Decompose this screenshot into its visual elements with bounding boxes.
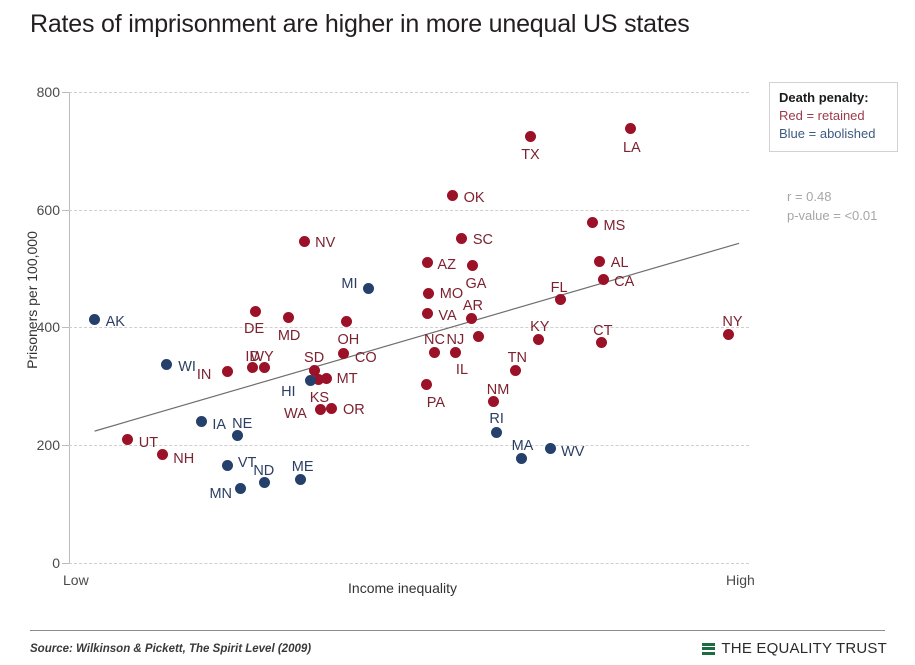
data-point-ct[interactable] bbox=[596, 337, 607, 348]
point-label-ma: MA bbox=[512, 438, 534, 454]
point-label-de: DE bbox=[244, 321, 264, 337]
point-label-ct: CT bbox=[593, 323, 612, 339]
data-point-ut[interactable] bbox=[122, 434, 133, 445]
data-point-il[interactable] bbox=[450, 347, 461, 358]
gridline-200 bbox=[69, 445, 749, 446]
gridline-800 bbox=[69, 92, 749, 93]
point-label-ca: CA bbox=[614, 274, 634, 290]
point-label-la: LA bbox=[623, 140, 641, 156]
tick-600 bbox=[62, 210, 69, 211]
data-point-ok[interactable] bbox=[447, 190, 458, 201]
data-point-pa[interactable] bbox=[421, 379, 432, 390]
tick-0 bbox=[62, 563, 69, 564]
tick-400 bbox=[62, 327, 69, 328]
source-note: Source: Wilkinson & Pickett, The Spirit … bbox=[30, 643, 311, 655]
point-label-sc: SC bbox=[473, 232, 493, 248]
data-point-tx[interactable] bbox=[525, 131, 536, 142]
point-label-hi: HI bbox=[281, 384, 296, 400]
gridline-600 bbox=[69, 210, 749, 211]
data-point-ri[interactable] bbox=[491, 427, 502, 438]
data-point-nh[interactable] bbox=[157, 449, 168, 460]
point-label-va: VA bbox=[438, 308, 456, 324]
tick-800 bbox=[62, 92, 69, 93]
point-label-fl: FL bbox=[551, 280, 568, 296]
data-point-hi[interactable] bbox=[305, 375, 316, 386]
data-point-sc[interactable] bbox=[456, 233, 467, 244]
data-point-mt[interactable] bbox=[321, 373, 332, 384]
point-label-ga: GA bbox=[466, 276, 487, 292]
point-label-nm: NM bbox=[487, 382, 510, 398]
data-point-nc[interactable] bbox=[429, 347, 440, 358]
point-label-nd: ND bbox=[253, 463, 274, 479]
data-point-al[interactable] bbox=[594, 256, 605, 267]
data-point-ak[interactable] bbox=[89, 314, 100, 325]
data-point-mo[interactable] bbox=[423, 288, 434, 299]
point-label-ri: RI bbox=[489, 411, 504, 427]
legend: Death penalty: Red = retained Blue = abo… bbox=[769, 82, 898, 152]
point-label-nj: NJ bbox=[446, 332, 464, 348]
brand-logo: THE EQUALITY TRUST bbox=[702, 640, 887, 657]
data-point-ky[interactable] bbox=[533, 334, 544, 345]
point-label-in: IN bbox=[197, 367, 212, 383]
gridline-0 bbox=[69, 563, 749, 564]
data-point-me[interactable] bbox=[295, 474, 306, 485]
point-label-mn: MN bbox=[209, 486, 232, 502]
point-label-tn: TN bbox=[508, 350, 527, 366]
data-point-wv[interactable] bbox=[545, 443, 556, 454]
data-point-nd[interactable] bbox=[259, 477, 270, 488]
point-label-md: MD bbox=[278, 328, 301, 344]
point-label-ia: IA bbox=[212, 417, 226, 433]
data-point-nm[interactable] bbox=[488, 396, 499, 407]
data-point-or[interactable] bbox=[326, 403, 337, 414]
point-label-mi: MI bbox=[341, 276, 357, 292]
data-point-de[interactable] bbox=[250, 306, 261, 317]
gridline-400 bbox=[69, 327, 749, 328]
data-point-fl[interactable] bbox=[555, 294, 566, 305]
x-axis-title-text: Income inequality bbox=[348, 580, 457, 596]
data-point-ms[interactable] bbox=[587, 217, 598, 228]
data-point-wi[interactable] bbox=[161, 359, 172, 370]
data-point-ne[interactable] bbox=[232, 430, 243, 441]
stats-annotation: r = 0.48 p-value = <0.01 bbox=[787, 188, 877, 226]
y-tick-label-800: 800 bbox=[0, 84, 60, 100]
data-point-wa[interactable] bbox=[315, 404, 326, 415]
x-axis-title: Income inequality bbox=[0, 580, 915, 596]
point-label-ms: MS bbox=[604, 218, 626, 234]
y-tick-label-0: 0 bbox=[0, 555, 60, 571]
data-point-mi[interactable] bbox=[363, 283, 374, 294]
point-label-tx: TX bbox=[521, 147, 540, 163]
p-value: p-value = <0.01 bbox=[787, 207, 877, 226]
y-tick-label-200: 200 bbox=[0, 437, 60, 453]
data-point-az[interactable] bbox=[422, 257, 433, 268]
point-label-ak: AK bbox=[106, 314, 125, 330]
data-point-oh[interactable] bbox=[341, 316, 352, 327]
equality-trust-bars-icon bbox=[702, 643, 715, 655]
point-label-al: AL bbox=[611, 255, 629, 271]
legend-entry-abolished: Blue = abolished bbox=[779, 125, 888, 143]
data-point-nv[interactable] bbox=[299, 236, 310, 247]
y-axis-title: Prisoners per 100,000 bbox=[24, 200, 40, 400]
data-point-ga[interactable] bbox=[467, 260, 478, 271]
point-label-wv: WV bbox=[561, 444, 584, 460]
data-point-vt[interactable] bbox=[222, 460, 233, 471]
point-label-sd: SD bbox=[304, 350, 324, 366]
point-label-nv: NV bbox=[315, 235, 335, 251]
data-point-nj[interactable] bbox=[473, 331, 484, 342]
point-label-wi: WI bbox=[178, 359, 196, 375]
data-point-md[interactable] bbox=[283, 312, 294, 323]
data-point-ny[interactable] bbox=[723, 329, 734, 340]
legend-heading: Death penalty: bbox=[779, 90, 888, 105]
data-point-ia[interactable] bbox=[196, 416, 207, 427]
footer-divider bbox=[30, 630, 885, 631]
point-label-me: ME bbox=[292, 459, 314, 475]
point-label-pa: PA bbox=[427, 395, 445, 411]
point-label-ky: KY bbox=[530, 319, 549, 335]
point-label-wa: WA bbox=[284, 406, 307, 422]
data-point-in[interactable] bbox=[222, 366, 233, 377]
point-label-oh: OH bbox=[338, 332, 360, 348]
data-point-mn[interactable] bbox=[235, 483, 246, 494]
point-label-ar: AR bbox=[463, 298, 483, 314]
data-point-va[interactable] bbox=[422, 308, 433, 319]
data-point-la[interactable] bbox=[625, 123, 636, 134]
data-point-ca[interactable] bbox=[598, 274, 609, 285]
brand-name: THE EQUALITY TRUST bbox=[721, 640, 887, 657]
data-point-ar[interactable] bbox=[466, 313, 477, 324]
point-label-az: AZ bbox=[437, 257, 456, 273]
point-label-ok: OK bbox=[464, 190, 485, 206]
point-label-nh: NH bbox=[173, 451, 194, 467]
point-label-or: OR bbox=[343, 402, 365, 418]
correlation-value: r = 0.48 bbox=[787, 188, 877, 207]
point-label-co: CO bbox=[355, 350, 377, 366]
tick-200 bbox=[62, 445, 69, 446]
point-label-il: IL bbox=[456, 362, 468, 378]
point-label-wy: WY bbox=[250, 349, 273, 365]
point-label-ut: UT bbox=[139, 435, 158, 451]
point-label-mo: MO bbox=[440, 286, 463, 302]
point-label-nc: NC bbox=[424, 332, 445, 348]
point-label-ne: NE bbox=[232, 416, 252, 432]
legend-entry-retained: Red = retained bbox=[779, 107, 888, 125]
data-point-co[interactable] bbox=[338, 348, 349, 359]
data-point-ma[interactable] bbox=[516, 453, 527, 464]
point-label-ny: NY bbox=[722, 314, 742, 330]
data-point-tn[interactable] bbox=[510, 365, 521, 376]
point-label-mt: MT bbox=[337, 371, 358, 387]
